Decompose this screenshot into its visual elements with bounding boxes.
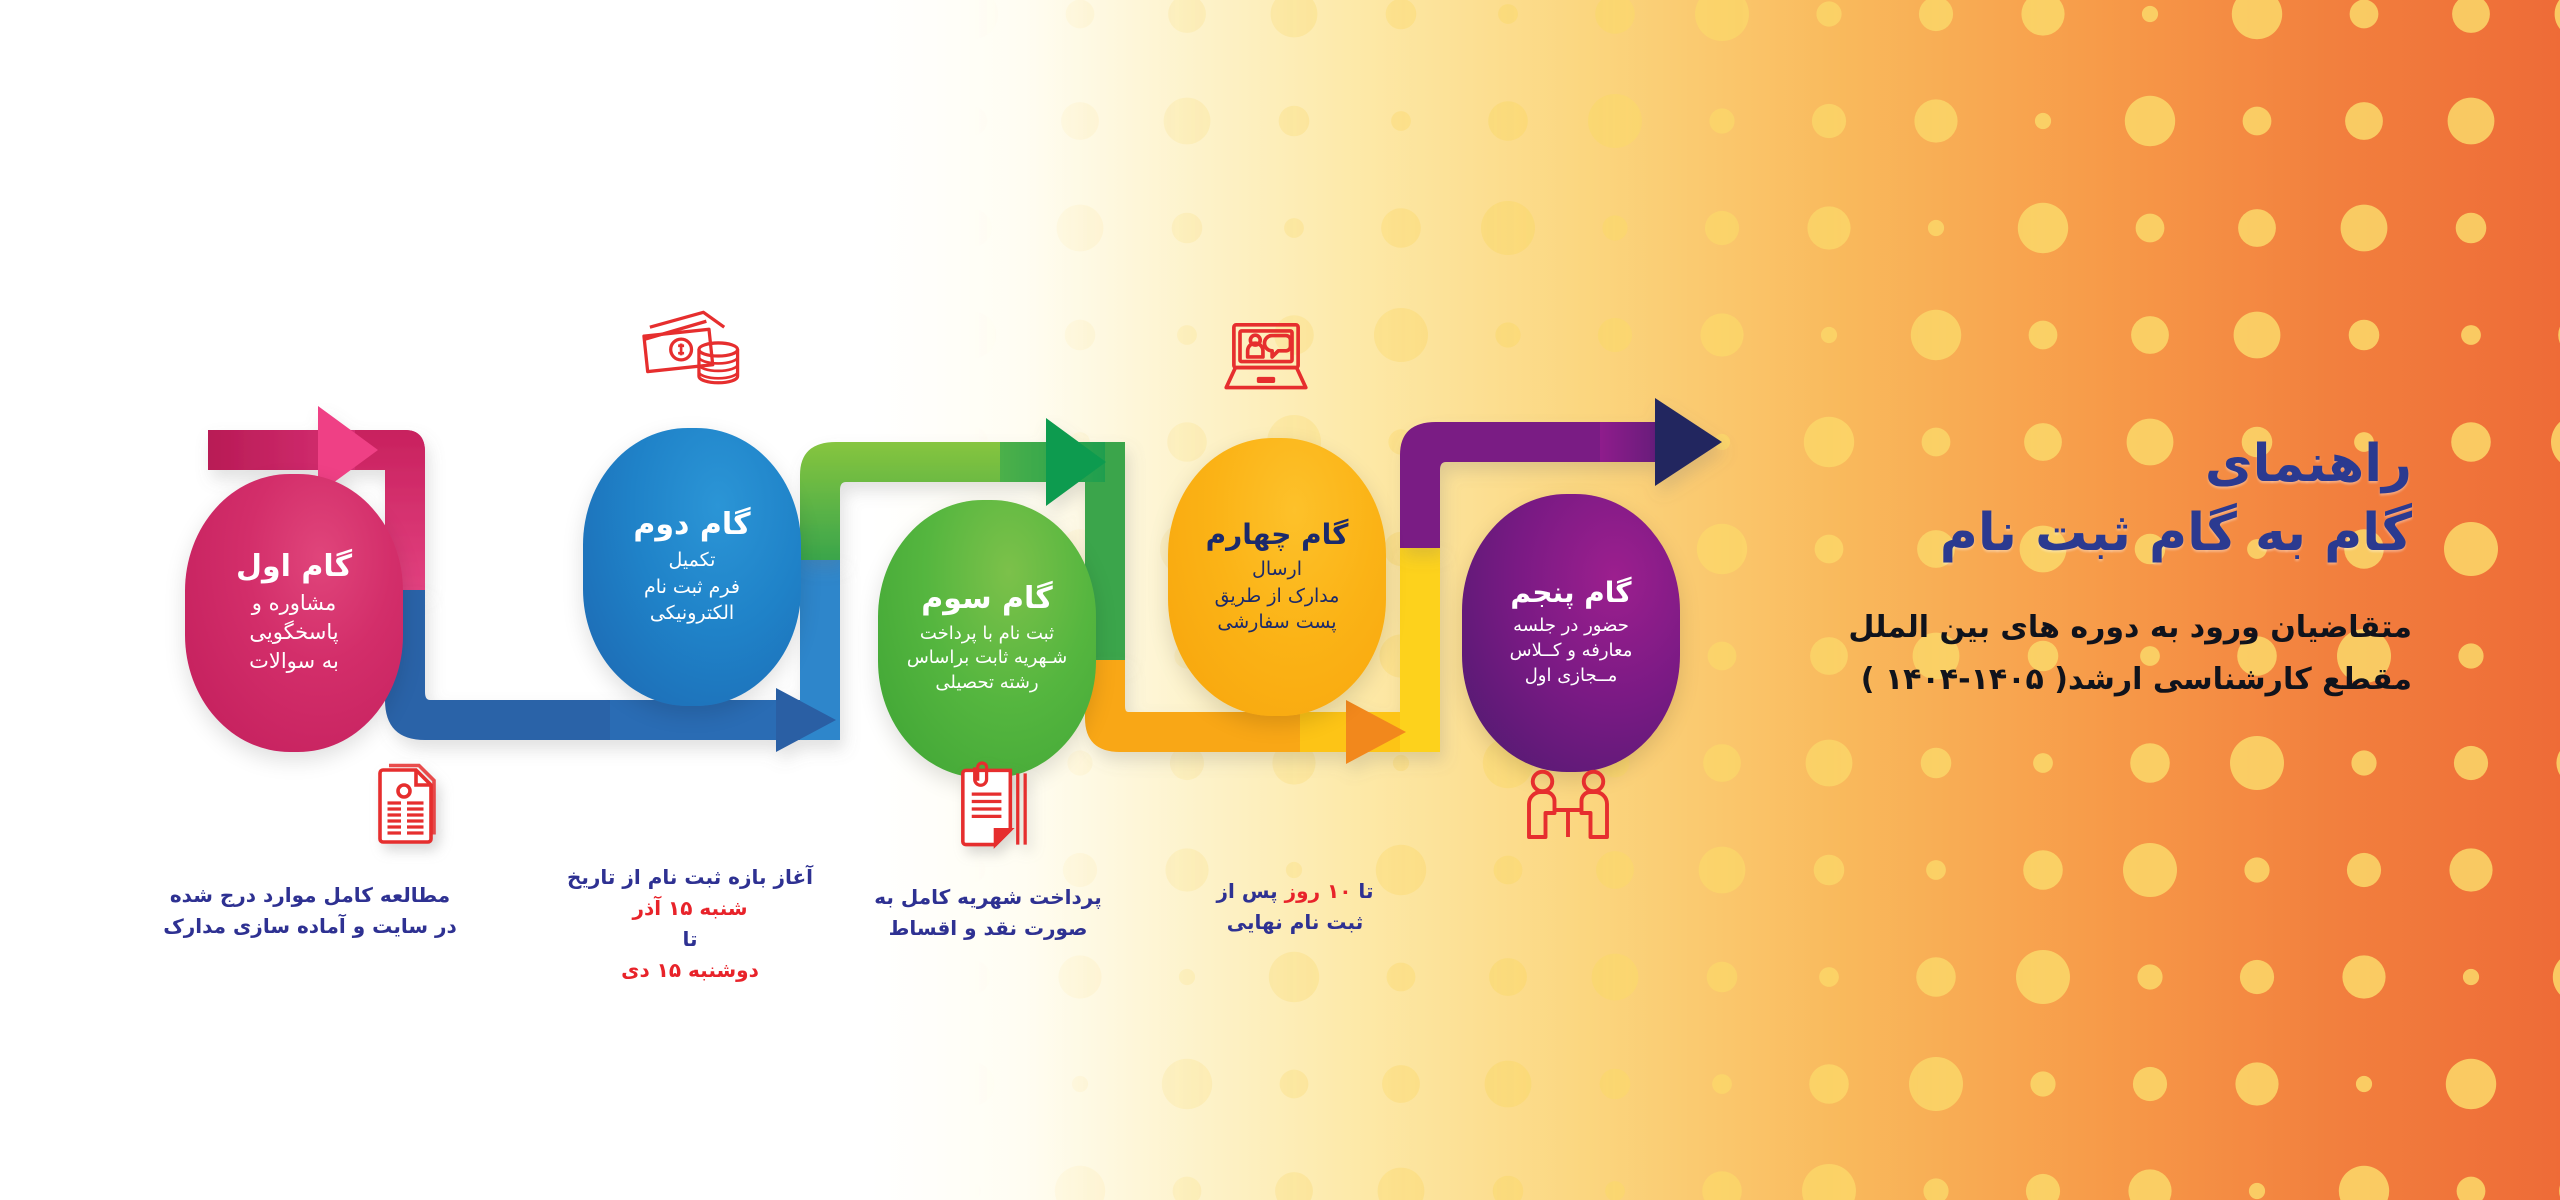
process-flow: گام اول مشاوره و پاسخگویی به سوالات گام … (0, 0, 1760, 1200)
caption-1-line-1: مطالعه کامل موارد درج شده (160, 880, 460, 911)
step-2-title: گام دوم (633, 508, 750, 542)
headline-line-1: راهنمای (1532, 430, 2412, 499)
step-2-description: تکمیل فرم ثبت نام الکترونیکی (644, 547, 740, 626)
laptop-video-call-icon (1214, 312, 1318, 408)
caption-step-1: مطالعه کامل موارد درج شده در سایت و آماد… (160, 880, 460, 942)
caption-step-4: تا ۱۰ روز پس از ثبت نام نهایی (1180, 876, 1410, 938)
document-paperclip-icon (948, 758, 1040, 854)
caption-4-line-2: ثبت نام نهایی (1180, 907, 1410, 938)
step-3-title: گام سوم (921, 582, 1052, 616)
step-pill-1[interactable]: گام اول مشاوره و پاسخگویی به سوالات (185, 474, 403, 752)
step-pill-4[interactable]: گام چهارم ارسال مدارک از طریق پست سفارشی (1168, 438, 1386, 716)
headline-block: راهنمای گام به گام ثبت نام متقاضیان ورود… (1532, 430, 2412, 705)
step-3-description: ثبت نام با پرداخت شـهریه ثابت براساس رشت… (907, 622, 1067, 696)
caption-3-line-1: پرداخت شهریه کامل به (848, 882, 1128, 913)
caption-4-prefix: تا (1351, 879, 1373, 903)
step-4-description: ارسال مدارک از طریق پست سفارشی (1215, 556, 1340, 635)
caption-step-3: پرداخت شهریه کامل به صورت نقد و اقساط (848, 882, 1128, 944)
subtitle-line-2: مقطع کارشناسی ارشد( ۱۴۰۵-۱۴۰۴ ) (1532, 654, 2412, 706)
caption-2-line-2: شنبه ۱۵ آذر (560, 893, 820, 924)
step-2-desc-line-1: تکمیل (669, 549, 716, 571)
step-2-desc-line-3: الکترونیکی (650, 602, 734, 624)
step-3-desc-line-2: شـهریه ثابت براساس (907, 647, 1067, 668)
step-1-desc-line-1: مشاوره و (252, 591, 336, 615)
caption-3-line-2: صورت نقد و اقساط (848, 913, 1128, 944)
step-4-title: گام چهارم (1206, 519, 1349, 550)
step-pill-3[interactable]: گام سوم ثبت نام با پرداخت شـهریه ثابت بر… (878, 500, 1096, 778)
step-2-desc-line-2: فرم ثبت نام (644, 576, 740, 598)
step-1-title: گام اول (236, 550, 352, 584)
documents-stack-icon (356, 758, 452, 854)
caption-step-2: آغاز بازه ثبت نام از تاریخ شنبه ۱۵ آذر ت… (560, 862, 820, 986)
step-1-desc-line-3: به سوالات (249, 649, 339, 673)
money-cash-coins-icon (638, 300, 748, 396)
step-4-desc-line-3: پست سفارشی (1217, 611, 1336, 633)
caption-2-line-4: دوشنبه ۱۵ دی (560, 955, 820, 986)
step-1-description: مشاوره و پاسخگویی به سوالات (249, 589, 339, 676)
step-4-desc-line-1: ارسال (1252, 558, 1302, 580)
caption-4-highlight: ۱۰ روز (1285, 879, 1352, 903)
caption-4-suffix: پس از (1217, 879, 1285, 903)
infographic-canvas: گام اول مشاوره و پاسخگویی به سوالات گام … (0, 0, 2560, 1200)
step-4-desc-line-2: مدارک از طریق (1215, 585, 1340, 607)
headline-subtitle: متقاضیان ورود به دوره های بین الملل مقطع… (1532, 602, 2412, 705)
step-pill-2[interactable]: گام دوم تکمیل فرم ثبت نام الکترونیکی (583, 428, 801, 706)
step-3-desc-line-1: ثبت نام با پرداخت (920, 623, 1054, 644)
step-1-desc-line-2: پاسخگویی (249, 620, 338, 644)
caption-4-line-1: تا ۱۰ روز پس از (1180, 876, 1410, 907)
caption-2-line-3: تا (560, 924, 820, 955)
headline-line-2: گام به گام ثبت نام (1532, 499, 2412, 569)
step-3-desc-line-3: رشته تحصیلی (935, 672, 1038, 693)
subtitle-line-1: متقاضیان ورود به دوره های بین الملل (1532, 602, 2412, 654)
caption-1-line-2: در سایت و آماده سازی مدارک (160, 911, 460, 942)
caption-2-line-1: آغاز بازه ثبت نام از تاریخ (560, 862, 820, 893)
meeting-two-people-icon (1520, 766, 1616, 854)
